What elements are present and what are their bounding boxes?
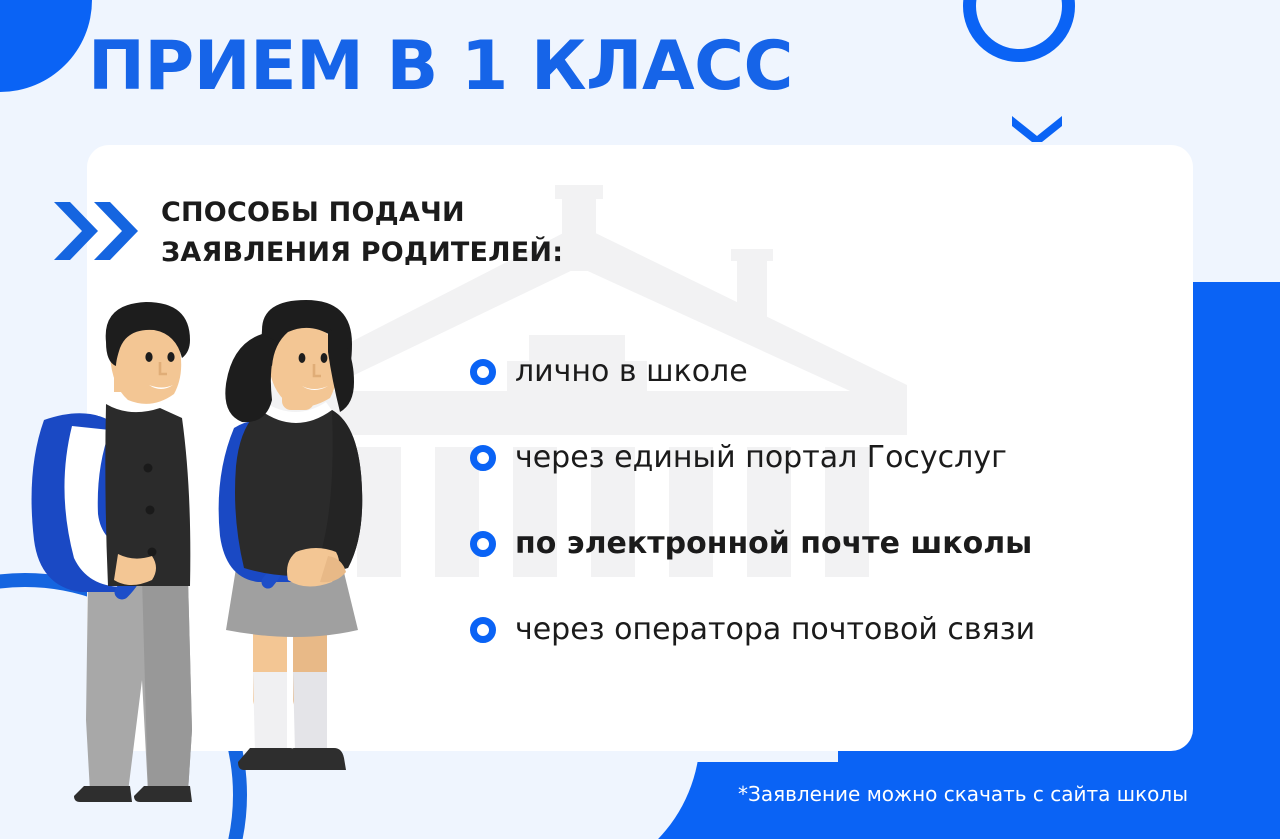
corner-circle-decoration — [0, 0, 92, 92]
page-title: ПРИЕМ В 1 КЛАСС — [88, 29, 793, 105]
subheading-line-2: ЗАЯВЛЕНИЯ РОДИТЕЛЕЙ: — [161, 233, 563, 273]
list-item: через оператора почтовой связи — [470, 602, 1170, 658]
list-item: лично в школе — [470, 344, 1170, 400]
list-item-label: лично в школе — [515, 355, 748, 389]
circle-ring-bullet-icon — [470, 359, 496, 385]
submission-methods-list: лично в школе через единый портал Госусл… — [470, 344, 1170, 658]
subheading: СПОСОБЫ ПОДАЧИ ЗАЯВЛЕНИЯ РОДИТЕЛЕЙ: — [161, 193, 563, 273]
list-item: через единый портал Госуслуг — [470, 430, 1170, 486]
circle-outline-icon — [963, 0, 1075, 62]
circle-ring-bullet-icon — [470, 617, 496, 643]
double-chevron-right-icon — [52, 200, 140, 262]
list-item-label: через оператора почтовой связи — [515, 613, 1035, 647]
subheading-line-1: СПОСОБЫ ПОДАЧИ — [161, 193, 563, 233]
list-item-label: по электронной почте школы — [515, 527, 1032, 561]
two-schoolchildren-icon — [10, 300, 400, 820]
chevron-down-icon — [1008, 112, 1066, 142]
circle-ring-bullet-icon — [470, 531, 496, 557]
footnote-text: *Заявление можно скачать с сайта школы — [738, 781, 1188, 807]
circle-ring-bullet-icon — [470, 445, 496, 471]
list-item: по электронной почте школы — [470, 516, 1170, 572]
poster-root: ПРИЕМ В 1 КЛАСС СПОСОБЫ ПОДАЧИ ЗАЯВЛЕНИЯ… — [0, 0, 1280, 839]
list-item-label: через единый портал Госуслуг — [515, 441, 1007, 475]
